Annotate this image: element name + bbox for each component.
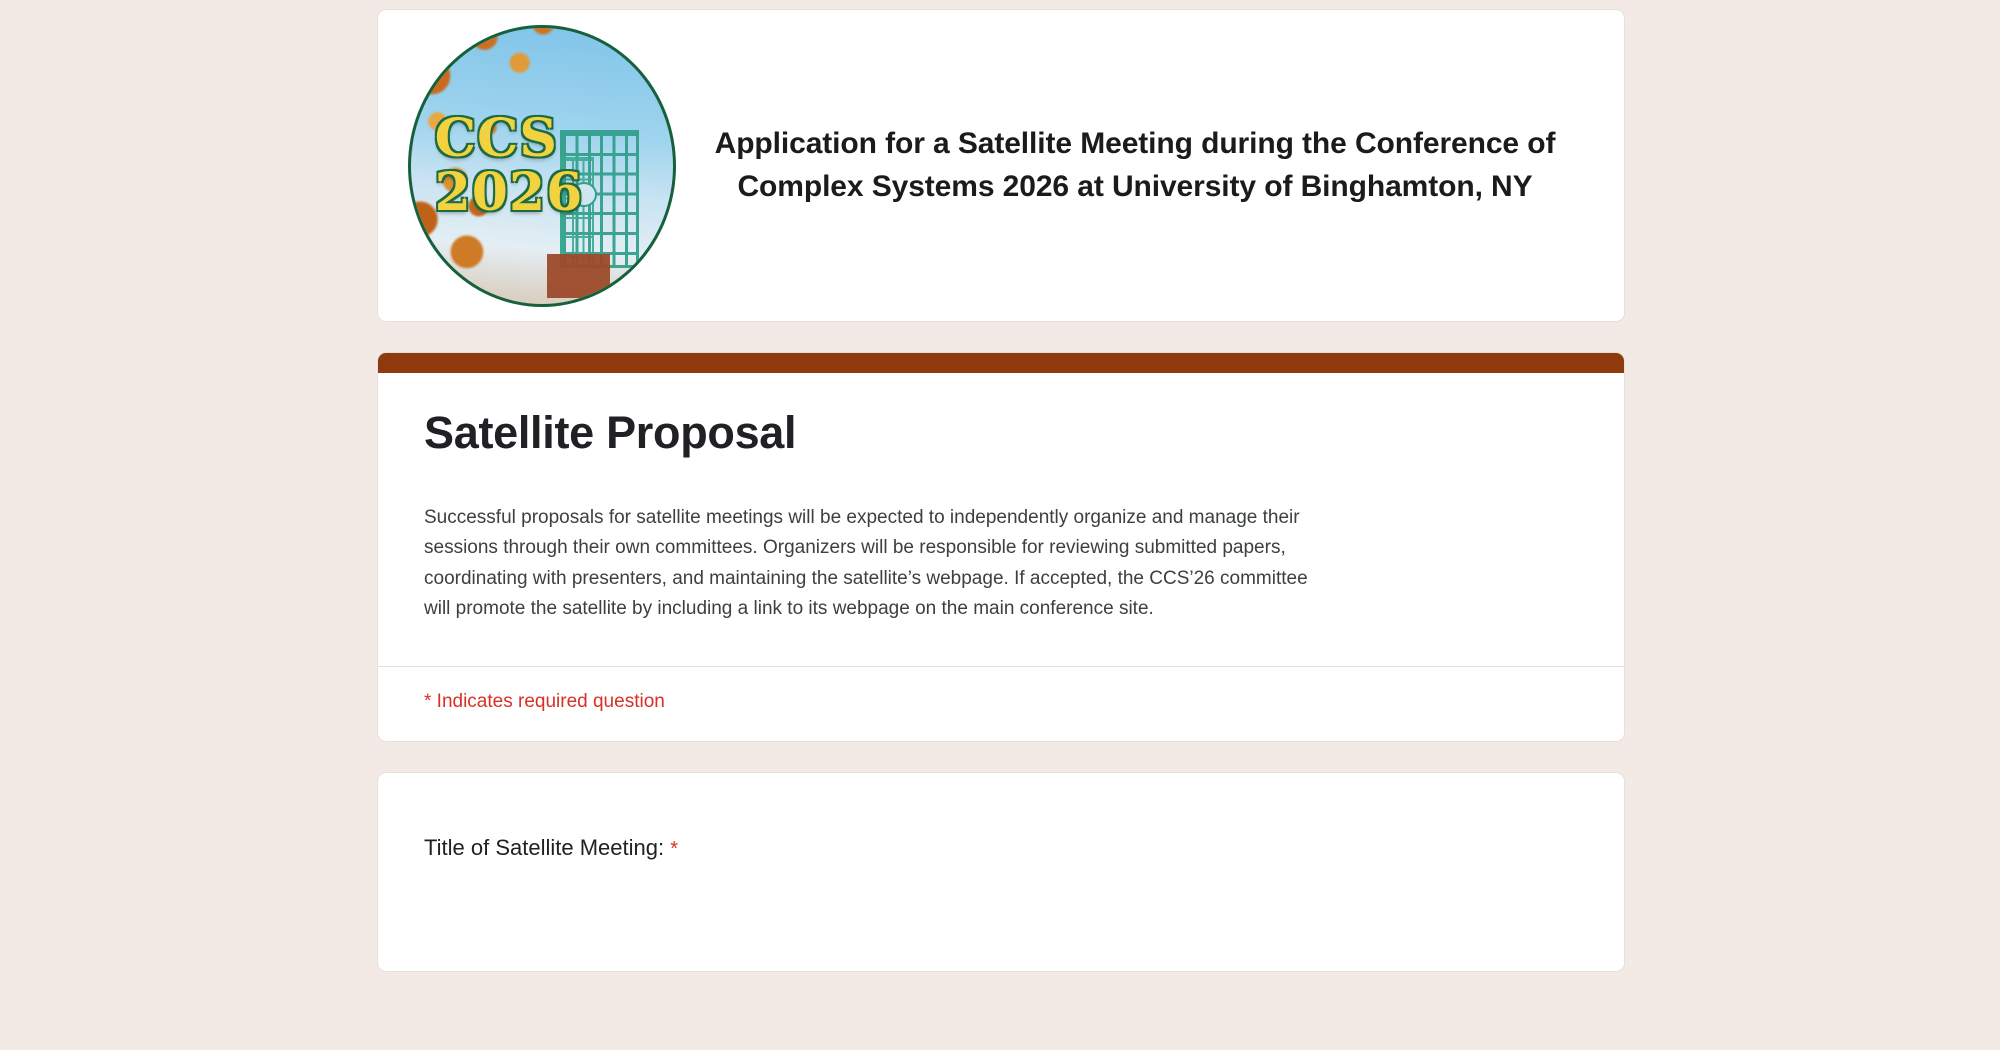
question-label: Title of Satellite Meeting: *: [424, 833, 1578, 864]
form-column: CCS 2026 Application for a Satellite Mee…: [377, 0, 1625, 972]
question-label-text: Title of Satellite Meeting:: [424, 835, 664, 860]
form-page: CCS 2026 Application for a Satellite Mee…: [0, 0, 2000, 1050]
ccs-2026-logo: CCS 2026: [408, 25, 676, 307]
form-description-text: Successful proposals for satellite meeti…: [424, 503, 1324, 625]
form-description-body: Satellite Proposal Successful proposals …: [378, 373, 1624, 666]
logo-text-ccs: CCS: [435, 112, 558, 165]
page-title: Satellite Proposal: [424, 407, 1578, 459]
form-description-card: Satellite Proposal Successful proposals …: [377, 352, 1625, 742]
building-base-shape: [547, 254, 610, 298]
satellite-dish-icon: [571, 182, 597, 207]
header-title: Application for a Satellite Meeting duri…: [676, 123, 1598, 208]
header-banner-card: CCS 2026 Application for a Satellite Mee…: [377, 9, 1625, 322]
logo-circle-image: CCS 2026: [408, 25, 676, 307]
question-card-title-of-satellite-meeting[interactable]: Title of Satellite Meeting: *: [377, 772, 1625, 972]
accent-bar: [377, 352, 1625, 373]
required-question-note: * Indicates required question: [378, 667, 1624, 741]
required-asterisk: *: [670, 838, 678, 860]
lattice-tower-secondary-icon: [560, 157, 594, 267]
